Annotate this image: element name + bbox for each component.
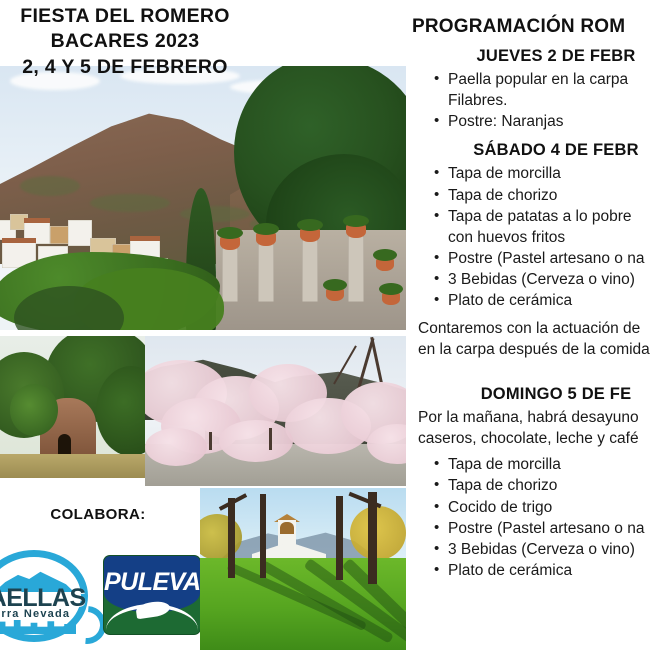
tree-trunk	[209, 432, 212, 450]
potted-plant	[379, 283, 403, 295]
roof	[2, 238, 36, 243]
flower-pot	[256, 232, 276, 246]
menu-item: 3 Bebidas (Cerveza o vino)	[448, 540, 650, 560]
colabora-label: COLABORA:	[0, 506, 196, 523]
potted-plant	[253, 223, 279, 235]
sabado-note-line-2: en la carpa después de la comida	[418, 340, 650, 360]
potted-plant	[297, 219, 323, 231]
blossom-cluster	[145, 428, 207, 466]
potted-plant	[343, 215, 369, 227]
day-heading-domingo: DOMINGO 5 DE FE	[412, 385, 650, 404]
autumn-tree-canopy	[350, 506, 406, 560]
paellas-subtitle: ierra Nevada	[0, 608, 90, 620]
menu-item: Cocido de trigo	[448, 498, 650, 518]
menu-list-sabado: Tapa de morcilla Tapa de chorizo Tapa de…	[412, 164, 650, 311]
left-photo-column: FIESTA DEL ROMERO BACARES 2023 2, 4 Y 5 …	[0, 0, 406, 650]
stone-ruin-photo	[0, 336, 145, 478]
day-heading-jueves: JUEVES 2 DE FEBR	[412, 47, 650, 66]
section-spacer	[412, 360, 650, 376]
flower-pot	[376, 258, 394, 271]
house	[50, 226, 70, 244]
tree-trunk	[228, 498, 235, 578]
puleva-logo: PULEVA	[104, 556, 200, 634]
flower-pot	[382, 292, 400, 305]
garden-terrace	[216, 230, 406, 330]
title-line-3: 2, 4 Y 5 DE FEBRERO	[0, 55, 250, 80]
menu-item: Plato de cerámica	[448, 291, 650, 311]
bush	[10, 384, 58, 436]
menu-item: Tapa de morcilla	[448, 164, 650, 184]
roof	[24, 218, 50, 223]
scrub-patch	[90, 194, 170, 212]
flower-pot	[326, 288, 344, 301]
collaborators-section: COLABORA:	[0, 506, 196, 523]
menu-item: Plato de cerámica	[448, 561, 650, 581]
house	[68, 220, 92, 246]
menu-item: Tapa de chorizo	[448, 186, 650, 206]
ermita-church-photo	[200, 488, 406, 650]
domingo-intro-line-2: caseros, chocolate, leche y café	[418, 429, 650, 449]
menu-item-continuation: con huevos fritos	[448, 228, 650, 248]
sabado-note: Contaremos con la actuación de en la car…	[418, 319, 650, 360]
menu-item: Postre (Pastel artesano o na	[448, 519, 650, 539]
menu-item-continuation: Filabres.	[448, 91, 650, 111]
menu-item: Tapa de chorizo	[448, 476, 650, 496]
menu-item: Tapa de patatas a lo pobre	[448, 207, 650, 227]
sponsor-logos: PAELLAS ierra Nevada PULEVA	[0, 540, 206, 648]
sabado-note-line-1: Contaremos con la actuación de	[418, 319, 650, 339]
terrace-pillar	[258, 244, 274, 302]
roof	[130, 236, 160, 241]
menu-item: 3 Bebidas (Cerveza o vino)	[448, 270, 650, 290]
menu-list-jueves: Paella popular en la carpa Filabres. Pos…	[412, 70, 650, 132]
menu-item: Postre (Pastel artesano o na	[448, 249, 650, 269]
blossom-cluster	[219, 420, 293, 462]
almond-blossom-photo	[145, 336, 406, 486]
program-column: PROGRAMACIÓN ROM JUEVES 2 DE FEBR Paella…	[406, 0, 650, 650]
dry-grass-ground	[0, 454, 145, 478]
program-content: PROGRAMACIÓN ROM JUEVES 2 DE FEBR Paella…	[412, 0, 650, 582]
potted-plant	[217, 227, 243, 239]
puleva-wordmark: PULEVA	[104, 568, 200, 597]
tree-trunk	[269, 428, 272, 450]
title-line-2: BACARES 2023	[0, 29, 250, 54]
flower-pot	[220, 236, 240, 250]
domingo-intro: Por la mañana, habrá desayuno caseros, c…	[418, 408, 650, 449]
potted-plant	[323, 279, 347, 291]
poster-root: FIESTA DEL ROMERO BACARES 2023 2, 4 Y 5 …	[0, 0, 650, 650]
potted-plant	[373, 249, 397, 261]
tree-trunk	[336, 496, 343, 580]
tree-trunk	[260, 494, 266, 578]
program-heading: PROGRAMACIÓN ROM	[412, 16, 650, 38]
poster-title: FIESTA DEL ROMERO BACARES 2023 2, 4 Y 5 …	[0, 4, 250, 80]
menu-item: Postre: Naranjas	[448, 112, 650, 132]
scrub-patch	[20, 176, 80, 196]
village-mountain-panorama-photo	[0, 66, 406, 330]
terrace-pillar	[302, 240, 318, 302]
paellas-logo: PAELLAS ierra Nevada	[0, 544, 98, 648]
menu-item: Tapa de morcilla	[448, 455, 650, 475]
day-heading-sabado: SÁBADO 4 DE FEBR	[412, 141, 650, 160]
flower-pot	[346, 224, 366, 238]
bell-arch	[280, 522, 294, 534]
menu-list-domingo: Tapa de morcilla Tapa de chorizo Cocido …	[412, 455, 650, 581]
menu-item: Paella popular en la carpa	[448, 70, 650, 90]
domingo-intro-line-1: Por la mañana, habrá desayuno	[418, 408, 650, 428]
terrace-pillar	[222, 248, 238, 302]
terrace-pillar	[348, 236, 364, 302]
title-line-1: FIESTA DEL ROMERO	[0, 4, 250, 29]
flower-pot	[300, 228, 320, 242]
